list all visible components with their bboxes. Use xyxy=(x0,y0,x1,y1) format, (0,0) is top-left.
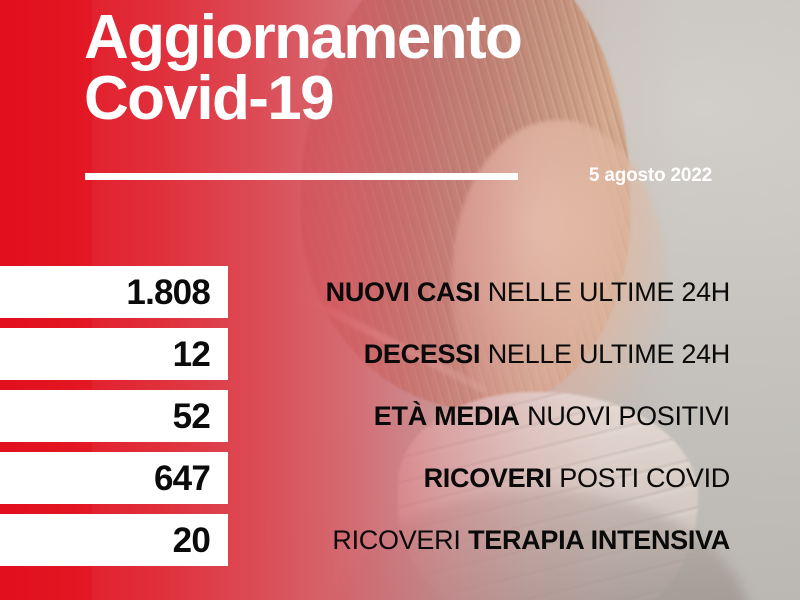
stat-label: NUOVI CASI NELLE ULTIME 24H xyxy=(326,266,730,318)
stat-row: 647 RICOVERI POSTI COVID xyxy=(0,452,800,504)
stat-row: 20 RICOVERI TERAPIA INTENSIVA xyxy=(0,514,800,566)
stat-label-light: NELLE ULTIME 24H xyxy=(488,279,730,306)
stat-label-strong: ETÀ MEDIA xyxy=(374,403,520,430)
stat-label-strong: DECESSI xyxy=(364,341,480,368)
stat-label-light: NELLE ULTIME 24H xyxy=(488,341,730,368)
stat-label-light: NUOVI POSITIVI xyxy=(527,403,730,430)
stat-value: 52 xyxy=(173,399,210,434)
stat-value: 12 xyxy=(173,337,210,372)
poster-content: Aggiornamento Covid-19 5 agosto 2022 1.8… xyxy=(0,0,800,600)
stat-label-strong: TERAPIA INTENSIVA xyxy=(468,527,730,554)
stat-value-bar: 52 xyxy=(0,390,228,442)
stat-row: 52 ETÀ MEDIA NUOVI POSITIVI xyxy=(0,390,800,442)
covid-update-poster: Aggiornamento Covid-19 5 agosto 2022 1.8… xyxy=(0,0,800,600)
stat-label-light: RICOVERI xyxy=(332,527,460,554)
stat-value: 1.808 xyxy=(126,275,210,310)
stat-label-light: POSTI COVID xyxy=(559,465,730,492)
stat-row: 12 DECESSI NELLE ULTIME 24H xyxy=(0,328,800,380)
stat-value-bar: 647 xyxy=(0,452,228,504)
stat-label: DECESSI NELLE ULTIME 24H xyxy=(364,328,730,380)
stat-value-bar: 20 xyxy=(0,514,228,566)
stat-value-bar: 12 xyxy=(0,328,228,380)
stat-row: 1.808 NUOVI CASI NELLE ULTIME 24H xyxy=(0,266,800,318)
title-divider-rule xyxy=(85,173,518,180)
statistics-list: 1.808 NUOVI CASI NELLE ULTIME 24H 12 DEC… xyxy=(0,266,800,566)
stat-label: RICOVERI POSTI COVID xyxy=(424,452,730,504)
stat-label-strong: NUOVI CASI xyxy=(326,279,481,306)
stat-label: RICOVERI TERAPIA INTENSIVA xyxy=(332,514,730,566)
stat-label: ETÀ MEDIA NUOVI POSITIVI xyxy=(374,390,730,442)
stat-value-bar: 1.808 xyxy=(0,266,228,318)
stat-value: 20 xyxy=(173,523,210,558)
page-title: Aggiornamento Covid-19 xyxy=(84,8,744,130)
report-date: 5 agosto 2022 xyxy=(589,165,712,187)
stat-value: 647 xyxy=(154,461,210,496)
stat-label-strong: RICOVERI xyxy=(424,465,552,492)
